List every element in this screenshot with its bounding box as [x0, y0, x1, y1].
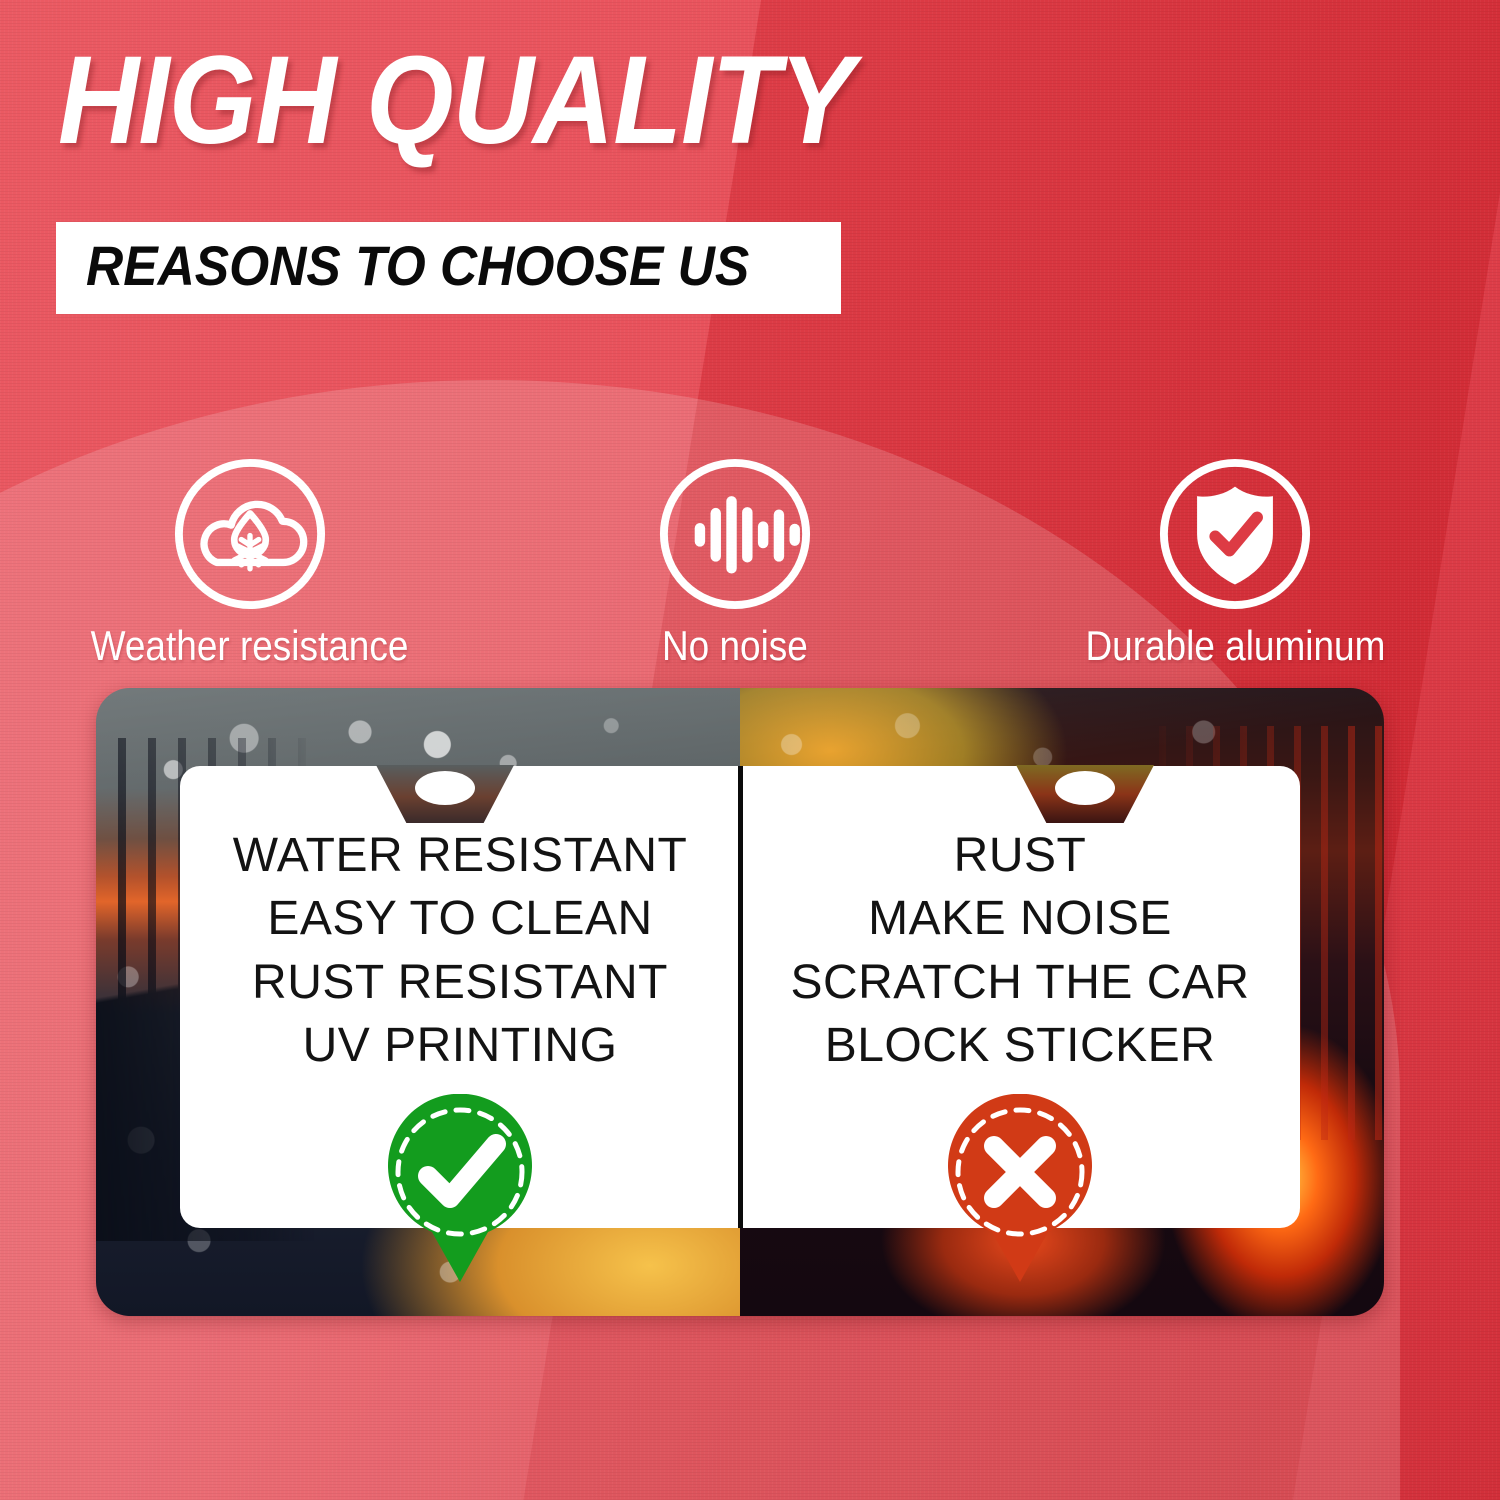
cons-line: BLOCK STICKER — [825, 1014, 1216, 1077]
pros-line: EASY TO CLEAN — [267, 887, 652, 950]
cons-line: RUST — [954, 824, 1087, 887]
subtitle-text: REASONS TO CHOOSE US — [86, 238, 749, 294]
feature-durable-aluminum: Durable aluminum — [970, 455, 1500, 667]
product-license-plate-frame: WATER RESISTANT EASY TO CLEAN RUST RESIS… — [96, 688, 1384, 1316]
check-pin-icon — [380, 1094, 540, 1284]
feature-weather-resistance: Weather resistance — [0, 455, 500, 667]
pros-line: RUST RESISTANT — [252, 951, 668, 1014]
feature-label: Weather resistance — [91, 625, 409, 667]
cloud-rain-snow-icon — [171, 455, 329, 613]
pros-line: UV PRINTING — [303, 1014, 618, 1077]
feature-no-noise: No noise — [500, 455, 970, 667]
feature-label: No noise — [662, 625, 808, 667]
subtitle-banner: REASONS TO CHOOSE US — [56, 222, 841, 314]
pros-line: WATER RESISTANT — [233, 824, 688, 887]
poster-canvas: HIGH QUALITY REASONS TO CHOOSE US — [0, 0, 1500, 1500]
page-title: HIGH QUALITY — [58, 38, 853, 163]
cross-pin-icon — [940, 1094, 1100, 1284]
shield-check-icon — [1156, 455, 1314, 613]
cons-line: MAKE NOISE — [868, 887, 1172, 950]
feature-label: Durable aluminum — [1085, 625, 1385, 667]
feature-row: Weather resistance No noise — [0, 455, 1500, 667]
sound-wave-icon — [656, 455, 814, 613]
comparison-window: WATER RESISTANT EASY TO CLEAN RUST RESIS… — [180, 766, 1300, 1228]
cons-line: SCRATCH THE CAR — [790, 951, 1249, 1014]
